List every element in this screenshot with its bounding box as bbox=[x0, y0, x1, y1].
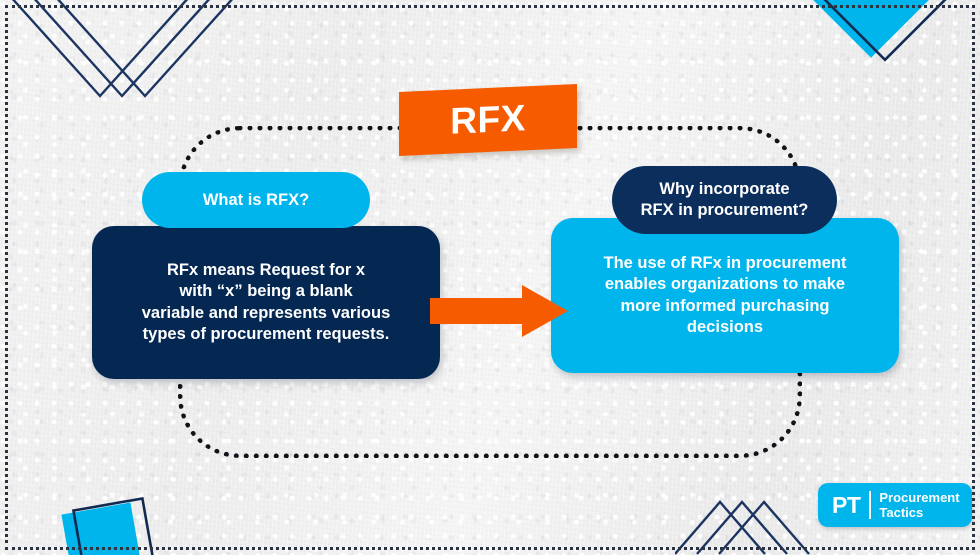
right-card-body: The use of RFx in procurement enables or… bbox=[551, 218, 899, 373]
left-card-line-3: variable and represents various bbox=[142, 304, 391, 322]
right-card-line-2: enables organizations to make bbox=[605, 275, 845, 293]
left-card-body-text: RFx means Request for x with “x” being a… bbox=[142, 260, 391, 346]
flow-arrow-icon bbox=[430, 285, 568, 337]
left-card-pill: What is RFX? bbox=[142, 172, 370, 228]
logo-word-line-1: Procurement bbox=[879, 490, 959, 505]
rfx-banner-title: RFX bbox=[399, 84, 577, 156]
left-card-line-2: with “x” being a blank bbox=[179, 282, 352, 300]
right-card-pill-line-2: RFX in procurement? bbox=[641, 201, 809, 219]
logo-monogram: PT bbox=[832, 492, 869, 519]
right-card-body-text: The use of RFx in procurement enables or… bbox=[604, 253, 847, 339]
right-card-pill-label: Why incorporate RFX in procurement? bbox=[641, 179, 809, 220]
logo: PT Procurement Tactics bbox=[818, 483, 972, 527]
logo-wordmark: Procurement Tactics bbox=[879, 490, 959, 521]
slide-canvas: RFX RFx means Request for x with “x” bei… bbox=[0, 0, 980, 555]
top-right-diamond-decoration bbox=[790, 0, 980, 95]
left-card-body: RFx means Request for x with “x” being a… bbox=[92, 226, 440, 379]
right-card-line-4: decisions bbox=[687, 318, 763, 336]
left-card-line-4: types of procurement requests. bbox=[143, 325, 390, 343]
right-card-pill-line-1: Why incorporate bbox=[659, 180, 789, 198]
left-card-pill-label: What is RFX? bbox=[203, 190, 309, 211]
bottom-left-square-decoration bbox=[55, 492, 225, 555]
logo-word-line-2: Tactics bbox=[879, 505, 959, 520]
right-card-line-3: more informed purchasing bbox=[620, 297, 829, 315]
top-left-chevrons-decoration bbox=[0, 0, 250, 116]
logo-divider bbox=[869, 491, 871, 519]
right-card-pill: Why incorporate RFX in procurement? bbox=[612, 166, 837, 234]
left-card-line-1: RFx means Request for x bbox=[167, 261, 365, 279]
right-card-line-1: The use of RFx in procurement bbox=[604, 254, 847, 272]
